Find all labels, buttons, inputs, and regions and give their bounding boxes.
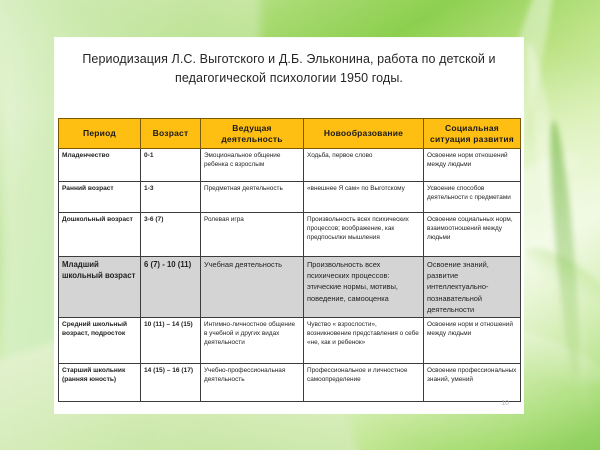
cell-formation: Произвольность всех психических процессо… [304, 213, 424, 257]
table-body: Младенчество 0-1 Эмоциональное общение р… [59, 149, 521, 402]
cell-period: Дошкольный возраст [59, 213, 141, 257]
cell-formation: Ходьба, первое слово [304, 149, 424, 182]
cell-age: 14 (15) – 16 (17) [141, 364, 201, 402]
column-header-activity[interactable]: Ведущая деятельность [201, 119, 304, 149]
cell-situation: Освоение норм и отношений между людьми [424, 318, 521, 364]
table-row[interactable]: Средний школьный возраст, подросток 10 (… [59, 318, 521, 364]
cell-activity: Эмоциональное общение ребенка с взрослым [201, 149, 304, 182]
cell-age: 0-1 [141, 149, 201, 182]
cell-period: Младший школьный возраст [59, 257, 141, 318]
table-row-highlighted[interactable]: Младший школьный возраст 6 (7) - 10 (11)… [59, 257, 521, 318]
cell-age: 10 (11) – 14 (15) [141, 318, 201, 364]
slide-viewer: Периодизация Л.С. Выготского и Д.Б. Эльк… [0, 0, 600, 450]
table-header: Период Возраст Ведущая деятельность Ново… [59, 119, 521, 149]
cell-age: 6 (7) - 10 (11) [141, 257, 201, 318]
table-row[interactable]: Ранний возраст 1-3 Предметная деятельнос… [59, 182, 521, 213]
column-header-period[interactable]: Период [59, 119, 141, 149]
cell-activity: Предметная деятельность [201, 182, 304, 213]
periodization-table-container: Период Возраст Ведущая деятельность Ново… [58, 118, 520, 402]
column-header-situation[interactable]: Социальная ситуация развития [424, 119, 521, 149]
cell-period: Средний школьный возраст, подросток [59, 318, 141, 364]
cell-activity: Учебно-профессиональная деятельность [201, 364, 304, 402]
cell-activity: Интимно-личностное общение в учебной и д… [201, 318, 304, 364]
table-row[interactable]: Дошкольный возраст 3-6 (7) Ролевая игра … [59, 213, 521, 257]
cell-formation: Профессиональное и личностное самоопреде… [304, 364, 424, 402]
column-header-age[interactable]: Возраст [141, 119, 201, 149]
slide-panel: Периодизация Л.С. Выготского и Д.Б. Эльк… [55, 38, 523, 413]
cell-situation: Усвоение способов деятельности с предмет… [424, 182, 521, 213]
cell-age: 3-6 (7) [141, 213, 201, 257]
periodization-table: Период Возраст Ведущая деятельность Ново… [58, 118, 521, 402]
table-row[interactable]: Старший школьник (ранняя юность) 14 (15)… [59, 364, 521, 402]
cell-period: Ранний возраст [59, 182, 141, 213]
cell-period: Младенчество [59, 149, 141, 182]
cell-age: 1-3 [141, 182, 201, 213]
cell-situation: Освоение норм отношений между людьми [424, 149, 521, 182]
cell-formation: «внешнее Я сам» по Выготскому [304, 182, 424, 213]
cell-activity: Учебная деятельность [201, 257, 304, 318]
cell-activity: Ролевая игра [201, 213, 304, 257]
page-number: 10 [501, 400, 509, 407]
cell-situation: Освоение знаний, развитие интеллектуальн… [424, 257, 521, 318]
cell-period: Старший школьник (ранняя юность) [59, 364, 141, 402]
cell-formation: Чувство « взрослости», возникновение пре… [304, 318, 424, 364]
table-header-row: Период Возраст Ведущая деятельность Ново… [59, 119, 521, 149]
cell-situation: Освоение социальных норм, взаимоотношени… [424, 213, 521, 257]
cell-situation: Освоение профессиональных знаний, умений [424, 364, 521, 402]
table-row[interactable]: Младенчество 0-1 Эмоциональное общение р… [59, 149, 521, 182]
cell-formation: Произвольность всех психических процессо… [304, 257, 424, 318]
page-title: Периодизация Л.С. Выготского и Д.Б. Эльк… [73, 50, 505, 88]
column-header-formation[interactable]: Новообразование [304, 119, 424, 149]
